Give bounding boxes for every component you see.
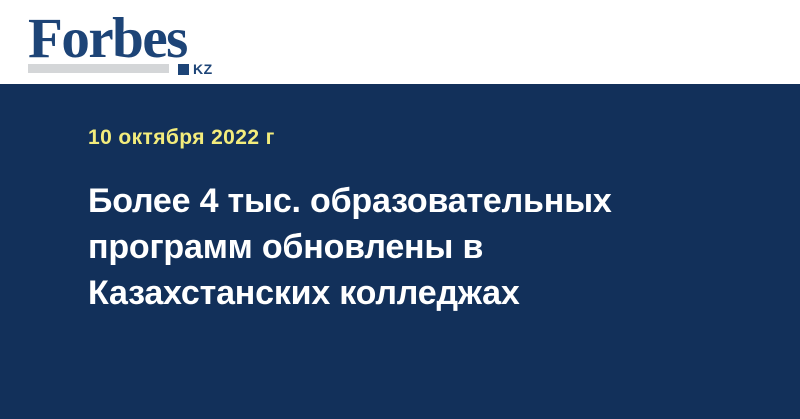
forbes-wordmark: Forbes bbox=[28, 10, 187, 67]
forbes-kz-logo[interactable]: Forbes KZ bbox=[28, 10, 218, 76]
article-date: 10 октября 2022 г bbox=[88, 126, 275, 150]
page-title: Более 4 тыс. образовательных программ об… bbox=[88, 178, 708, 316]
article-card: Forbes KZ 10 октября 2022 г Более 4 тыс.… bbox=[0, 0, 800, 419]
logo-kz-group: KZ bbox=[178, 62, 213, 76]
square-icon bbox=[178, 64, 189, 75]
page-title-line: программ обновлены в bbox=[88, 224, 708, 270]
page-title-line: Казахстанских колледжах bbox=[88, 270, 708, 316]
site-header: Forbes KZ bbox=[0, 0, 800, 84]
page-title-line: Более 4 тыс. образовательных bbox=[88, 178, 708, 224]
logo-underbar-divider bbox=[28, 64, 169, 73]
logo-region-code: KZ bbox=[193, 62, 213, 76]
article-body: 10 октября 2022 г Более 4 тыс. образоват… bbox=[0, 84, 800, 419]
